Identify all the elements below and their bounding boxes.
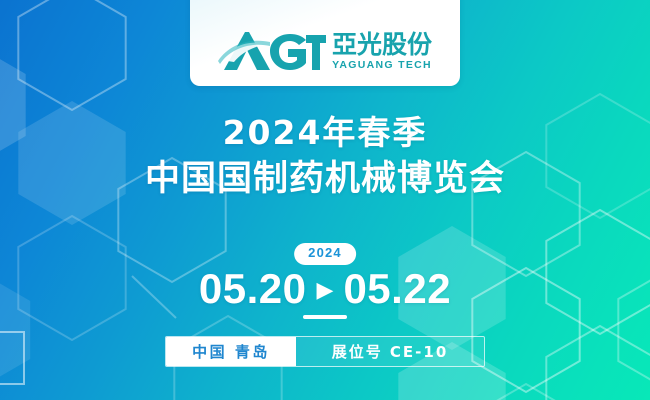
hexagon-shape (18, 0, 125, 110)
year-badge: 2024 (294, 243, 356, 265)
date-end: 05.22 (343, 268, 451, 310)
title-line-1: 2024年春季 (0, 112, 650, 154)
logo-company-cn: 亞光股份 (332, 32, 432, 57)
exhibition-poster: 亞光股份 YAGUANG TECH 2024年春季 中国国制药机械博览会 202… (0, 0, 650, 400)
decor-square (0, 332, 24, 384)
title-line-2: 中国国制药机械博览会 (0, 154, 650, 205)
hexagon-shape (546, 326, 650, 400)
info-bar: 中国 青岛 展位号 CE-10 (165, 336, 485, 367)
date-start: 05.20 (199, 268, 307, 310)
location-label: 中国 青岛 (166, 337, 296, 366)
date-range: 05.20 ▶ 05.22 (0, 268, 650, 310)
hexagon-shape (472, 384, 579, 400)
date-underline-rule (303, 315, 347, 319)
agt-logo-icon (218, 30, 326, 72)
booth-number-label: 展位号 CE-10 (296, 337, 484, 366)
logo-company-en: YAGUANG TECH (332, 60, 432, 71)
arrow-right-icon: ▶ (317, 279, 334, 301)
logo-plate: 亞光股份 YAGUANG TECH (190, 0, 460, 86)
company-logo: 亞光股份 YAGUANG TECH (218, 30, 432, 72)
headline-block: 2024年春季 中国国制药机械博览会 (0, 112, 650, 204)
logo-wordmark: 亞光股份 YAGUANG TECH (332, 32, 432, 71)
